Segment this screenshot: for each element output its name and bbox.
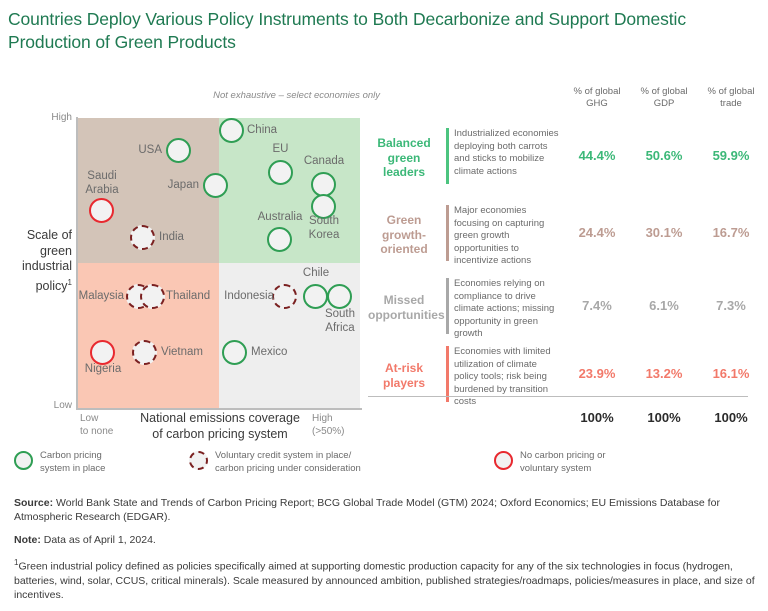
marker-label-saudi-arabia: Saudi Arabia	[71, 170, 133, 197]
total-gdp: 100%	[633, 410, 695, 425]
x-axis-tick-low: Low to none	[80, 412, 140, 438]
value-ghg: 44.4%	[566, 148, 628, 163]
y-axis-label-line3: industrial	[22, 259, 72, 273]
x-axis-tick-high-line1: High	[312, 413, 333, 424]
category-description: Major economies focusing on capturing gr…	[454, 205, 560, 268]
marker-china[interactable]	[219, 118, 244, 143]
value-ghg: 24.4%	[566, 225, 628, 240]
value-trade: 16.7%	[700, 225, 762, 240]
legend-label: Carbon pricing system in place	[40, 450, 105, 475]
category-description: Industrialized economies deploying both …	[454, 128, 560, 178]
marker-label-south-africa-line1: South	[325, 308, 355, 320]
column-header-ghg-line2: GHG	[586, 98, 608, 109]
not-exhaustive-note: Not exhaustive – select economies only	[190, 90, 380, 101]
y-axis-tick-high: High	[28, 112, 72, 123]
marker-label-south-africa-line2: Africa	[325, 322, 354, 334]
legend-marker-dashed-circle-icon	[189, 451, 208, 470]
category-accent-bar	[446, 278, 449, 334]
marker-australia[interactable]	[267, 227, 292, 252]
marker-label-usa: USA	[96, 144, 162, 158]
marker-thailand[interactable]	[140, 284, 165, 309]
marker-label-malaysia: Malaysia	[64, 290, 124, 304]
category-summary-panel: % of global GHG % of global GDP % of glo…	[368, 86, 762, 426]
marker-india[interactable]	[130, 225, 155, 250]
value-gdp: 13.2%	[633, 366, 695, 381]
x-axis-tick-high: High (>50%)	[312, 412, 368, 438]
y-axis-label: Scale of green industrial policy1	[4, 228, 72, 294]
value-trade: 16.1%	[700, 366, 762, 381]
value-trade: 59.9%	[700, 148, 762, 163]
marker-label-saudi-line1: Saudi	[87, 170, 116, 182]
marker-eu[interactable]	[268, 160, 293, 185]
x-axis-tick-high-line2: (>50%)	[312, 426, 345, 437]
category-label-line2: players	[383, 376, 425, 390]
category-accent-bar	[446, 205, 449, 261]
marker-label-saudi-line2: Arabia	[85, 184, 118, 196]
marker-label-south-korea-line1: South	[309, 215, 339, 227]
column-header-gdp-line2: GDP	[654, 98, 675, 109]
marker-label-japan: Japan	[128, 179, 199, 193]
marker-label-nigeria: Nigeria	[72, 363, 134, 377]
marker-indonesia[interactable]	[272, 284, 297, 309]
marker-nigeria[interactable]	[90, 340, 115, 365]
value-ghg: 7.4%	[566, 298, 628, 313]
category-label-missed-opportunities: Missed opportunities	[368, 293, 440, 322]
category-row: Balanced green leaders Industrialized ec…	[368, 126, 762, 192]
x-axis-tick-low-line2: to none	[80, 426, 113, 437]
legend-marker-green-circle-icon	[14, 451, 33, 470]
legend-label-line1: No carbon pricing or	[520, 450, 606, 461]
legend-label-line2: system in place	[40, 463, 105, 474]
category-label-line1: At-risk	[385, 361, 423, 375]
y-axis-label-line2: green	[40, 244, 72, 258]
value-ghg: 23.9%	[566, 366, 628, 381]
y-axis-label-footnote-marker: 1	[68, 278, 72, 287]
totals-divider	[368, 396, 748, 397]
value-gdp: 6.1%	[633, 298, 695, 313]
page-title: Countries Deploy Various Policy Instrume…	[8, 8, 738, 54]
footnote-source-text: World Bank State and Trends of Carbon Pr…	[14, 497, 720, 523]
legend-label-line1: Carbon pricing	[40, 450, 102, 461]
footnote-source: Source: World Bank State and Trends of C…	[14, 496, 756, 524]
footnote-one-text: Green industrial policy defined as polic…	[14, 561, 755, 601]
marker-label-canada: Canada	[296, 155, 352, 169]
legend: Carbon pricing system in place Voluntary…	[14, 448, 754, 482]
legend-label-line1: Voluntary credit system in place/	[215, 450, 351, 461]
value-trade: 7.3%	[700, 298, 762, 313]
category-label-at-risk-players: At-risk players	[368, 361, 440, 390]
column-header-gdp-line1: % of global	[640, 86, 687, 97]
footnote-note: Note: Data as of April 1, 2024.	[14, 533, 756, 547]
y-axis-label-line1: Scale of	[27, 228, 72, 242]
category-row: Green growth- oriented Major economies f…	[368, 203, 762, 269]
column-header-trade-line2: trade	[720, 98, 742, 109]
category-row: At-risk players Economies with limited u…	[368, 344, 762, 410]
legend-marker-red-circle-icon	[494, 451, 513, 470]
legend-label-line2: carbon pricing under consideration	[215, 463, 361, 474]
category-label-balanced-green-leaders: Balanced green leaders	[368, 136, 440, 180]
category-label-line2: opportunities	[368, 308, 445, 322]
category-label-green-growth-oriented: Green growth- oriented	[368, 213, 440, 257]
marker-usa[interactable]	[166, 138, 191, 163]
category-accent-bar	[446, 128, 449, 184]
footnote-note-label: Note:	[14, 534, 41, 546]
marker-label-chile: Chile	[290, 267, 342, 281]
marker-label-mexico: Mexico	[251, 346, 307, 360]
marker-south-africa[interactable]	[327, 284, 352, 309]
y-axis-label-line4: policy	[36, 279, 68, 293]
x-axis-tick-low-line1: Low	[80, 413, 98, 424]
category-label-line2: green	[388, 151, 421, 165]
x-axis-label-line1: National emissions coverage	[140, 411, 300, 425]
footnote-note-text: Data as of April 1, 2024.	[41, 534, 156, 546]
marker-label-australia: Australia	[252, 211, 308, 225]
marker-vietnam[interactable]	[132, 340, 157, 365]
column-header-ghg: % of global GHG	[566, 86, 628, 110]
column-header-trade-line1: % of global	[707, 86, 754, 97]
category-label-line1: Missed	[384, 293, 425, 307]
marker-label-india: India	[159, 231, 209, 245]
category-label-line1: Balanced	[377, 136, 430, 150]
legend-label-line2: voluntary system	[520, 463, 591, 474]
footnote-one: 1Green industrial policy defined as poli…	[14, 556, 756, 602]
legend-label: Voluntary credit system in place/ carbon…	[215, 450, 361, 475]
marker-chile[interactable]	[303, 284, 328, 309]
marker-label-china: China	[247, 124, 297, 138]
category-label-line3: leaders	[383, 165, 425, 179]
value-gdp: 30.1%	[633, 225, 695, 240]
footnotes: Source: World Bank State and Trends of C…	[14, 496, 756, 611]
category-row: Missed opportunities Economies relying o…	[368, 276, 762, 342]
category-label-line3: oriented	[380, 242, 427, 256]
column-header-ghg-line1: % of global	[573, 86, 620, 97]
y-axis-tick-low: Low	[28, 400, 72, 411]
category-label-line2: growth-	[382, 228, 426, 242]
x-axis-label-line2: of carbon pricing system	[152, 427, 287, 441]
total-trade: 100%	[700, 410, 762, 425]
category-label-line1: Green	[387, 213, 422, 227]
marker-saudi-arabia[interactable]	[89, 198, 114, 223]
category-description: Economies relying on compliance to drive…	[454, 278, 560, 341]
total-ghg: 100%	[566, 410, 628, 425]
legend-label: No carbon pricing or voluntary system	[520, 450, 606, 475]
column-header-trade: % of global trade	[700, 86, 762, 110]
marker-mexico[interactable]	[222, 340, 247, 365]
column-header-gdp: % of global GDP	[633, 86, 695, 110]
footnote-source-label: Source:	[14, 497, 53, 509]
value-gdp: 50.6%	[633, 148, 695, 163]
marker-label-south-africa: South Africa	[312, 308, 368, 335]
marker-label-indonesia: Indonesia	[212, 290, 274, 304]
marker-label-vietnam: Vietnam	[161, 346, 221, 360]
category-accent-bar	[446, 346, 449, 402]
x-axis-label: National emissions coverage of carbon pr…	[120, 410, 320, 442]
category-description: Economies with limited utilization of cl…	[454, 346, 560, 409]
marker-japan[interactable]	[203, 173, 228, 198]
marker-label-south-korea-line2: Korea	[309, 229, 340, 241]
